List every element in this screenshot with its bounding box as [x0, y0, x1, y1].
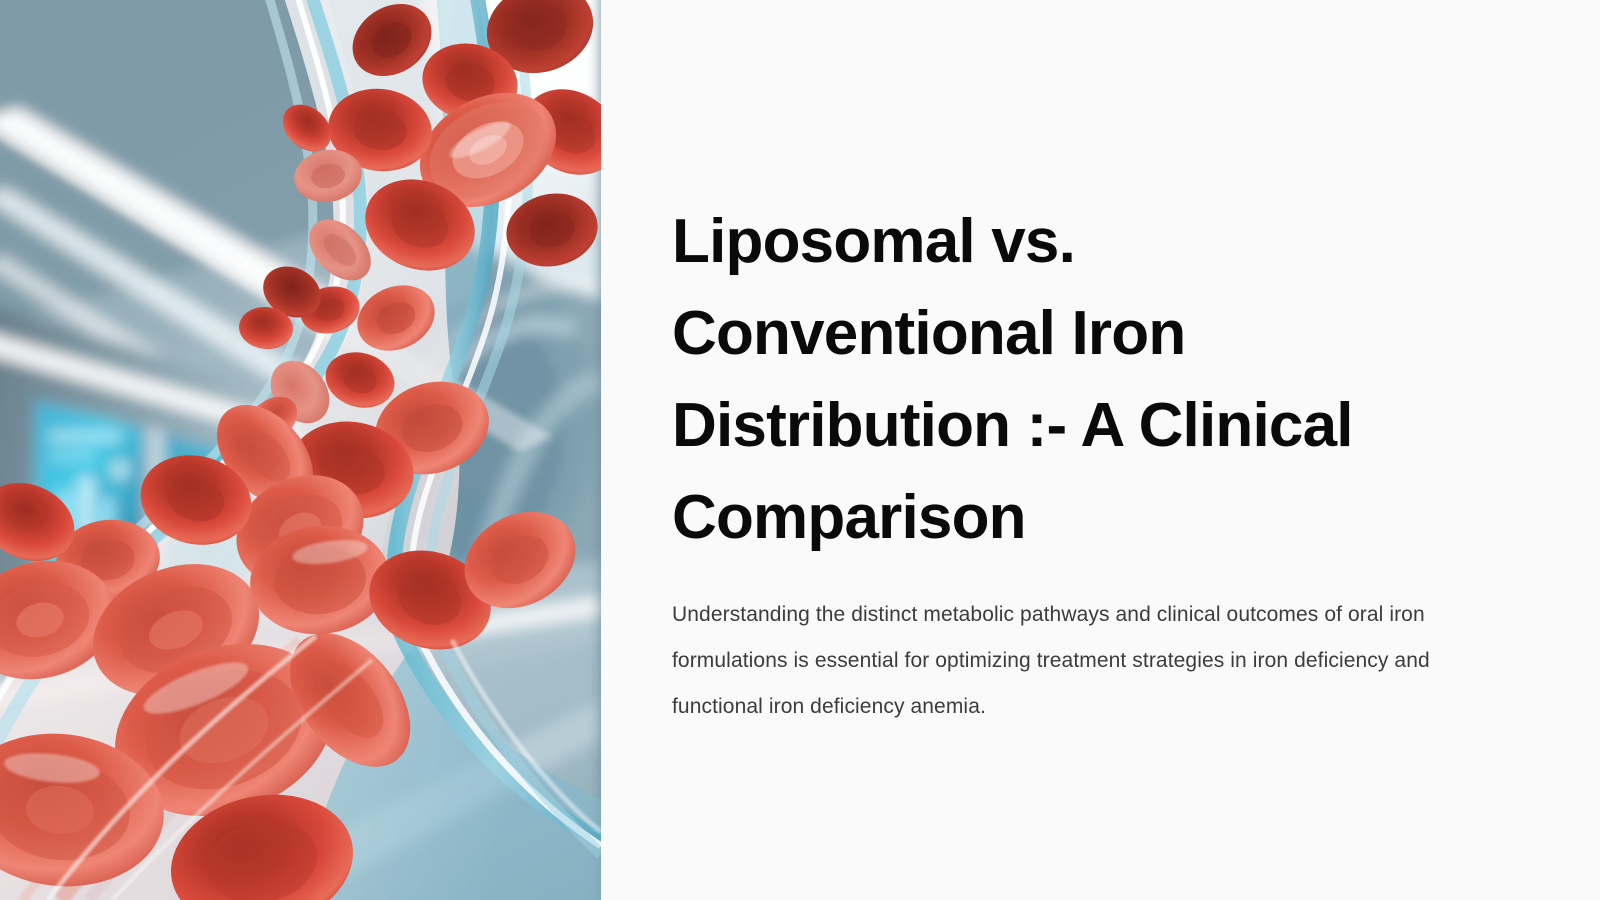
text-panel: Liposomal vs. Conventional Iron Distribu… [601, 0, 1600, 900]
blood-vessel-illustration [0, 0, 601, 900]
page-title: Liposomal vs. Conventional Iron Distribu… [672, 196, 1402, 564]
page-subtitle: Understanding the distinct metabolic pat… [672, 592, 1472, 730]
hero-image [0, 0, 601, 900]
slide-root: Liposomal vs. Conventional Iron Distribu… [0, 0, 1600, 900]
